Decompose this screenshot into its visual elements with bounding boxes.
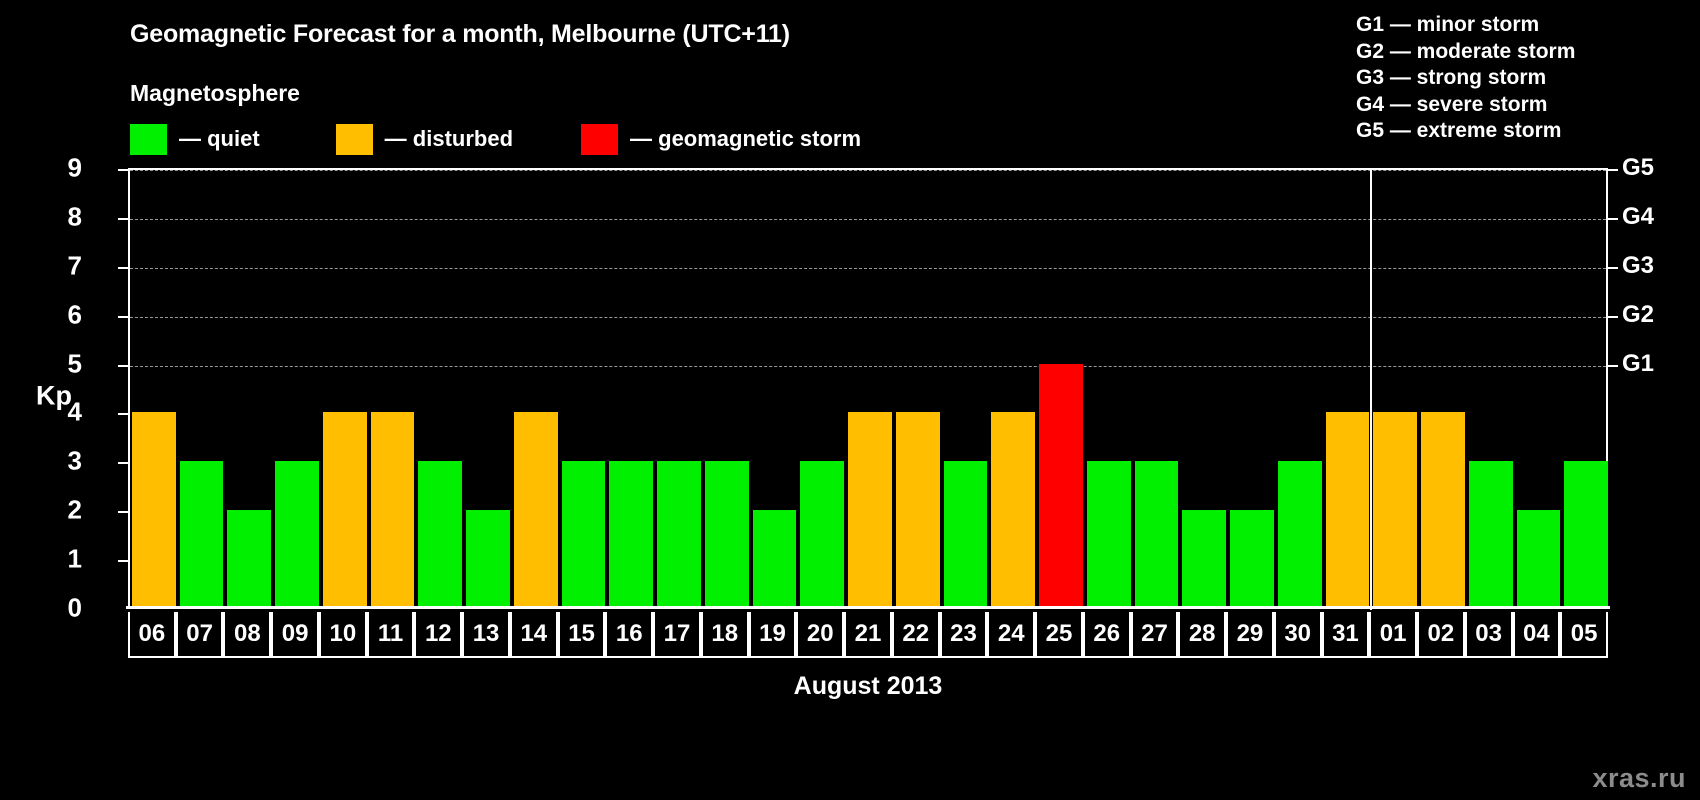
g-scale-line-5: G5 — extreme storm [1356, 118, 1686, 145]
bar-24 [991, 412, 1035, 608]
legend-label-quiet: — quiet [179, 126, 260, 152]
bar-29 [1230, 510, 1274, 608]
g-tick-G1 [1606, 365, 1618, 367]
g-scale-line-4: G4 — severe storm [1356, 92, 1686, 119]
legend-item-storm: — geomagnetic storm [581, 122, 861, 156]
bar-28 [1182, 510, 1226, 608]
bar-12 [418, 461, 462, 608]
x-axis-date-02: 02 [1417, 612, 1465, 658]
x-axis-date-20: 20 [796, 612, 844, 658]
x-axis-date-24: 24 [987, 612, 1035, 658]
x-axis-date-27: 27 [1131, 612, 1179, 658]
bar-23 [944, 461, 988, 608]
x-axis-date-23: 23 [940, 612, 988, 658]
g-tick-G3 [1606, 267, 1618, 269]
g-tick-G5 [1606, 169, 1618, 171]
x-axis-caption: August 2013 [128, 672, 1608, 701]
legend-label-disturbed: — disturbed [385, 126, 513, 152]
bar-25 [1039, 364, 1083, 608]
x-axis-date-06: 06 [128, 612, 176, 658]
g-axis-label-G5: G5 [1622, 154, 1654, 182]
bar-27 [1135, 461, 1179, 608]
x-axis-date-04: 04 [1513, 612, 1561, 658]
legend-swatch-quiet [130, 124, 167, 155]
y-tick-3 [118, 462, 130, 464]
x-axis-date-05: 05 [1560, 612, 1608, 658]
bar-08 [227, 510, 271, 608]
watermark: xras.ru [1592, 763, 1686, 794]
x-axis-date-10: 10 [319, 612, 367, 658]
bar-26 [1087, 461, 1131, 608]
legend-swatch-disturbed [336, 124, 373, 155]
x-axis-date-19: 19 [749, 612, 797, 658]
bars-layer [130, 170, 1606, 608]
x-axis-date-30: 30 [1274, 612, 1322, 658]
g-axis-label-G1: G1 [1622, 350, 1654, 378]
y-axis-label-2: 2 [42, 495, 82, 526]
g-scale-line-2: G2 — moderate storm [1356, 39, 1686, 66]
bar-06 [132, 412, 176, 608]
y-axis-label-5: 5 [42, 348, 82, 379]
y-axis-label-1: 1 [42, 544, 82, 575]
bar-11 [371, 412, 415, 608]
bar-19 [753, 510, 797, 608]
x-axis-date-28: 28 [1178, 612, 1226, 658]
bar-16 [609, 461, 653, 608]
g-axis-label-G4: G4 [1622, 203, 1654, 231]
month-divider-line [1370, 168, 1372, 610]
x-axis-date-22: 22 [892, 612, 940, 658]
g-axis-label-G3: G3 [1622, 252, 1654, 280]
x-axis-date-labels: 0607080910111213141516171819202122232425… [128, 612, 1608, 658]
bar-22 [896, 412, 940, 608]
x-axis-date-14: 14 [510, 612, 558, 658]
g-scale-line-1: G1 — minor storm [1356, 12, 1686, 39]
y-axis-label-4: 4 [42, 397, 82, 428]
legend-swatch-storm [581, 124, 618, 155]
bar-14 [514, 412, 558, 608]
bar-03 [1469, 461, 1513, 608]
x-axis-date-13: 13 [462, 612, 510, 658]
y-tick-8 [118, 218, 130, 220]
bar-18 [705, 461, 749, 608]
y-tick-6 [118, 316, 130, 318]
bar-05 [1564, 461, 1608, 608]
bar-30 [1278, 461, 1322, 608]
g-tick-G2 [1606, 316, 1618, 318]
legend-item-disturbed: — disturbed [336, 122, 513, 156]
bar-17 [657, 461, 701, 608]
x-axis-date-07: 07 [176, 612, 224, 658]
bar-13 [466, 510, 510, 608]
y-tick-9 [118, 169, 130, 171]
plot-area [128, 168, 1608, 608]
g-scale-legend: G1 — minor stormG2 — moderate stormG3 — … [1356, 12, 1686, 145]
page-title: Geomagnetic Forecast for a month, Melbou… [130, 20, 790, 49]
x-axis-date-17: 17 [653, 612, 701, 658]
x-axis-date-01: 01 [1369, 612, 1417, 658]
x-axis-date-26: 26 [1083, 612, 1131, 658]
y-axis-label-0: 0 [42, 593, 82, 624]
y-tick-1 [118, 560, 130, 562]
bar-07 [180, 461, 224, 608]
y-tick-4 [118, 413, 130, 415]
x-axis-date-03: 03 [1465, 612, 1513, 658]
g-scale-line-3: G3 — strong storm [1356, 65, 1686, 92]
x-axis-date-12: 12 [414, 612, 462, 658]
x-axis-date-09: 09 [271, 612, 319, 658]
bar-15 [562, 461, 606, 608]
legend-item-quiet: — quiet [130, 122, 260, 156]
y-tick-5 [118, 365, 130, 367]
bar-31 [1326, 412, 1370, 608]
y-tick-7 [118, 267, 130, 269]
y-tick-2 [118, 511, 130, 513]
g-tick-G4 [1606, 218, 1618, 220]
x-axis-date-25: 25 [1035, 612, 1083, 658]
y-axis-label-8: 8 [42, 201, 82, 232]
y-axis-label-3: 3 [42, 446, 82, 477]
y-axis-label-6: 6 [42, 299, 82, 330]
legend-label-storm: — geomagnetic storm [630, 126, 861, 152]
bar-09 [275, 461, 319, 608]
x-axis-date-21: 21 [844, 612, 892, 658]
x-axis-date-15: 15 [558, 612, 606, 658]
legend: — quiet— disturbed— geomagnetic storm [130, 122, 861, 156]
x-axis-date-31: 31 [1322, 612, 1370, 658]
g-axis-label-G2: G2 [1622, 301, 1654, 329]
bar-04 [1517, 510, 1561, 608]
x-axis-date-08: 08 [223, 612, 271, 658]
bar-10 [323, 412, 367, 608]
y-axis-label-7: 7 [42, 250, 82, 281]
x-axis-baseline [126, 606, 1610, 609]
bar-21 [848, 412, 892, 608]
bar-02 [1421, 412, 1465, 608]
bar-01 [1373, 412, 1417, 608]
y-axis-label-9: 9 [42, 153, 82, 184]
x-axis-date-16: 16 [605, 612, 653, 658]
x-axis-date-11: 11 [367, 612, 415, 658]
x-axis-date-18: 18 [701, 612, 749, 658]
x-axis-date-29: 29 [1226, 612, 1274, 658]
bar-20 [800, 461, 844, 608]
magnetosphere-label: Magnetosphere [130, 80, 300, 107]
